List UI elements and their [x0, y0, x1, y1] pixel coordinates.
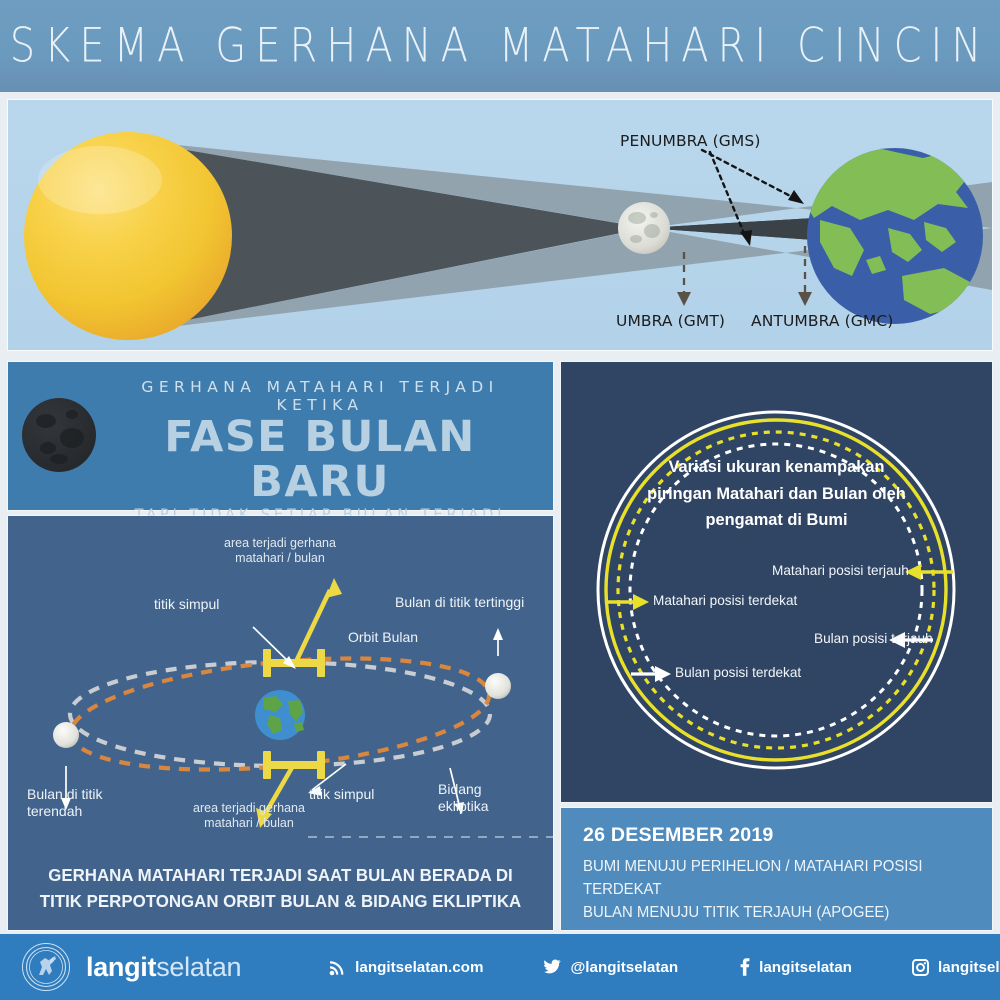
- penumbra-label: PENUMBRA (GMS): [620, 132, 760, 150]
- ecliptic-line1: Bidang: [438, 781, 489, 798]
- apparent-size-svg: [561, 362, 992, 802]
- facebook-handle: langitselatan: [759, 959, 852, 976]
- page-title: SKEMA GERHANA MATAHARI CINCIN: [10, 19, 991, 73]
- twitter-handle: @langitselatan: [570, 959, 678, 976]
- eclipse-area-arrowhead-top: [326, 578, 342, 598]
- event-detail: BUMI MENUJU PERIHELION / MATAHARI POSISI…: [583, 856, 980, 924]
- umbra-arrowhead: [677, 292, 691, 306]
- ecliptic-plane-label: Bidang ekliptika: [438, 781, 489, 815]
- footer-bar: langitselatan langitselatan.com @langits…: [0, 934, 1000, 1000]
- apparent-size-title-line2: piringan Matahari dan Bulan oleh: [605, 481, 948, 508]
- moon-highest: [485, 673, 511, 699]
- moon-lowest-label: Bulan di titik terendah: [27, 786, 102, 820]
- instagram-icon: [912, 959, 929, 976]
- eclipse-area-bottom-label: area terjadi gerhana matahari / bulan: [184, 801, 314, 832]
- eclipse-area-bottom-line2: matahari / bulan: [184, 816, 314, 831]
- moon-far-label: Bulan posisi terjauh: [814, 631, 933, 646]
- brand-name-light: selatan: [156, 952, 241, 982]
- moon-highest-label: Bulan di titik tertinggi: [395, 594, 524, 611]
- event-date-panel: 26 DESEMBER 2019 BUMI MENUJU PERIHELION …: [561, 808, 992, 930]
- fase-headline: FASE BULAN BARU: [96, 415, 544, 504]
- antumbra-arrowhead: [798, 292, 812, 306]
- apparent-size-panel: Variasi ukuran kenampakan piringan Matah…: [561, 362, 992, 802]
- instagram-link[interactable]: langitselatanmedia: [912, 959, 1000, 976]
- lunar-orbit-panel: area terjadi gerhana matahari / bulan ti…: [8, 516, 553, 930]
- moon-sphere: [618, 202, 670, 254]
- apparent-size-title-line1: Variasi ukuran kenampakan: [605, 454, 948, 481]
- ecliptic-line2: ekliptika: [438, 798, 489, 815]
- page-header: SKEMA GERHANA MATAHARI CINCIN: [0, 0, 1000, 92]
- penumbra-arrowhead-1: [788, 190, 804, 204]
- antumbra-label: ANTUMBRA (GMC): [751, 312, 893, 330]
- event-detail-line2: BULAN MENUJU TITIK TERJAUH (APOGEE): [583, 902, 980, 925]
- moon-near-label: Bulan posisi terdekat: [675, 665, 801, 680]
- moon-lowest-line2: terendah: [27, 803, 102, 820]
- website-label: langitselatan.com: [355, 959, 483, 976]
- node-top-label: titik simpul: [154, 596, 219, 613]
- orbit-caption-line1: GERHANA MATAHARI TERJADI SAAT BULAN BERA…: [16, 862, 545, 888]
- new-moon-disc-icon: [22, 398, 96, 472]
- facebook-icon: [738, 958, 750, 976]
- brand-name-bold: langit: [86, 952, 156, 982]
- node-bottom-label: titik simpul: [309, 786, 374, 803]
- brand-wordmark: langitselatan: [86, 952, 241, 983]
- moon-lowest: [53, 722, 79, 748]
- apparent-size-title-line3: pengamat di Bumi: [605, 507, 948, 534]
- moon-near-arrowhead: [655, 666, 671, 682]
- event-detail-line1: BUMI MENUJU PERIHELION / MATAHARI POSISI…: [583, 856, 980, 902]
- twitter-link[interactable]: @langitselatan: [543, 959, 678, 976]
- langitselatan-seal-icon: [22, 943, 70, 991]
- sun-far-label: Matahari posisi terjauh: [772, 563, 909, 578]
- new-moon-phase-panel: GERHANA MATAHARI TERJADI KETIKA FASE BUL…: [8, 362, 553, 510]
- instagram-handle: langitselatanmedia: [938, 959, 1000, 976]
- sun-near-arrowhead: [633, 594, 649, 610]
- event-date: 26 DESEMBER 2019: [583, 824, 774, 847]
- fase-eyebrow: GERHANA MATAHARI TERJADI KETIKA: [96, 378, 544, 414]
- eclipse-area-bottom-line1: area terjadi gerhana: [184, 801, 314, 816]
- eclipse-area-top-label: area terjadi gerhana matahari / bulan: [190, 536, 370, 567]
- brand-lockup[interactable]: langitselatan: [22, 943, 241, 991]
- moon-high-arrowhead: [493, 628, 503, 640]
- sun-near-label: Matahari posisi terdekat: [653, 593, 797, 608]
- umbra-label: UMBRA (GMT): [616, 312, 725, 330]
- orbit-caption-line2: TITIK PERPOTONGAN ORBIT BULAN & BIDANG E…: [16, 888, 545, 914]
- apparent-size-title: Variasi ukuran kenampakan piringan Matah…: [605, 454, 948, 534]
- website-link[interactable]: langitselatan.com: [329, 959, 483, 976]
- eclipse-area-top-line2: matahari / bulan: [190, 551, 370, 566]
- penumbra-arrowhead-2: [740, 230, 752, 246]
- moon-lowest-line1: Bulan di titik: [27, 786, 102, 803]
- eclipse-area-top-line1: area terjadi gerhana: [190, 536, 370, 551]
- facebook-link[interactable]: langitselatan: [738, 958, 852, 976]
- infographic-page: SKEMA GERHANA MATAHARI CINCIN: [0, 0, 1000, 1000]
- eclipse-geometry-panel: PENUMBRA (GMS) UMBRA (GMT) ANTUMBRA (GMC…: [8, 100, 992, 350]
- orbit-caption: GERHANA MATAHARI TERJADI SAAT BULAN BERA…: [16, 862, 545, 914]
- rss-icon: [329, 959, 346, 976]
- orbit-bulan-label: Orbit Bulan: [348, 629, 418, 646]
- twitter-icon: [543, 959, 561, 975]
